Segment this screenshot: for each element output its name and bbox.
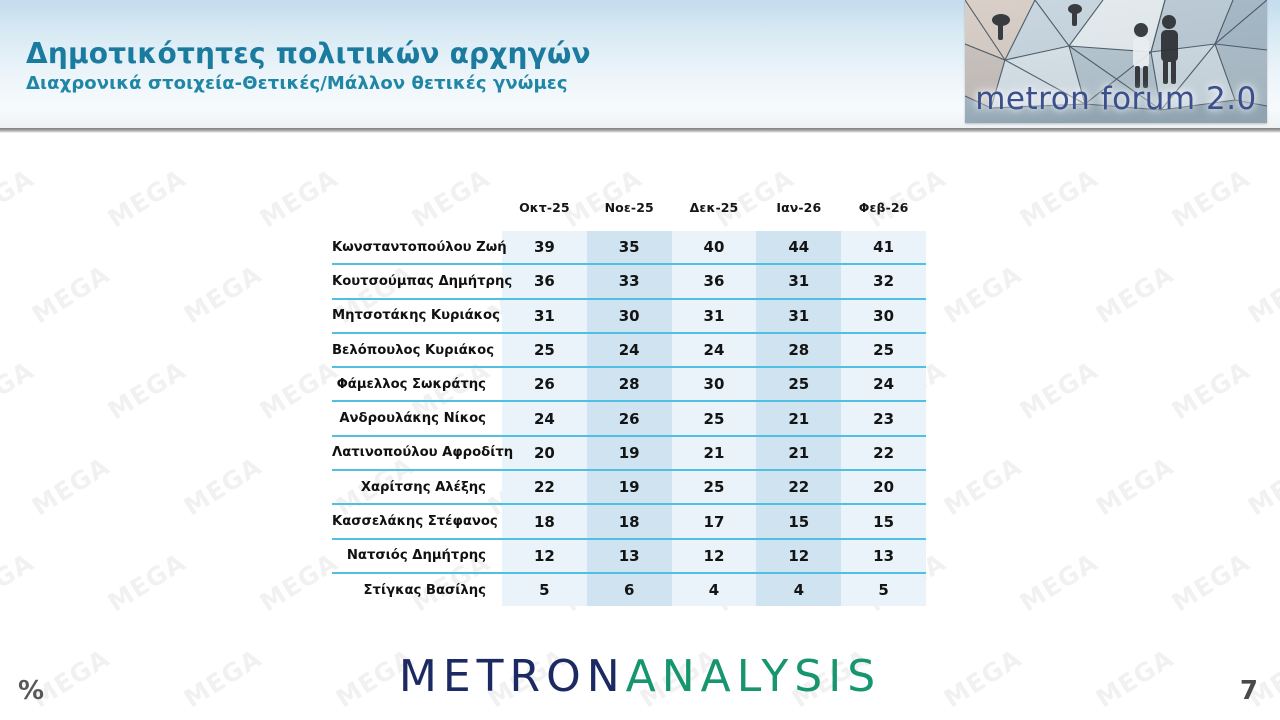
title-block: Δημοτικότητες πολιτικών αρχηγών Διαχρονι… xyxy=(26,38,591,95)
popularity-table: Οκτ-25 Νοε-25 Δεκ-25 Ιαν-26 Φεβ-26 Κωνστ… xyxy=(332,200,926,606)
row-label: Στίγκας Βασίλης xyxy=(332,573,502,606)
cell-r4-c2: 30 xyxy=(672,367,757,401)
cell-r10-c4: 5 xyxy=(841,573,926,606)
cell-r9-c0: 12 xyxy=(502,539,587,573)
watermark-text: MEGA xyxy=(0,163,39,233)
watermark-text: MEGA xyxy=(103,547,191,617)
cell-r6-c3: 21 xyxy=(756,436,841,470)
table-row: Ανδρουλάκης Νίκος2426252123 xyxy=(332,401,926,435)
cell-r0-c2: 40 xyxy=(672,231,757,264)
cell-r2-c2: 31 xyxy=(672,299,757,333)
table-body: Κωνσταντοπούλου Ζωή3935404441Κουτσούμπας… xyxy=(332,231,926,606)
table-header-row: Οκτ-25 Νοε-25 Δεκ-25 Ιαν-26 Φεβ-26 xyxy=(332,200,926,231)
row-label: Κασσελάκης Στέφανος xyxy=(332,504,502,538)
table-head: Οκτ-25 Νοε-25 Δεκ-25 Ιαν-26 Φεβ-26 xyxy=(332,200,926,231)
header-divider-rule xyxy=(0,128,1280,133)
slide: MEGAMEGAMEGAMEGAMEGAMEGAMEGAMEGAMEGAMEGA… xyxy=(0,0,1280,720)
cell-r1-c2: 36 xyxy=(672,264,757,298)
row-label: Ανδρουλάκης Νίκος xyxy=(332,401,502,435)
cell-r4-c3: 25 xyxy=(756,367,841,401)
cell-r8-c1: 18 xyxy=(587,504,672,538)
watermark-text: MEGA xyxy=(939,259,1027,329)
cell-r9-c3: 12 xyxy=(756,539,841,573)
cell-r6-c0: 20 xyxy=(502,436,587,470)
watermark-text: MEGA xyxy=(27,259,115,329)
column-header-2: Δεκ-25 xyxy=(672,200,757,231)
cell-r8-c4: 15 xyxy=(841,504,926,538)
cell-r9-c4: 13 xyxy=(841,539,926,573)
watermark-text: MEGA xyxy=(103,355,191,425)
watermark-text: MEGA xyxy=(1167,355,1255,425)
table-row: Βελόπουλος Κυριάκος2524242825 xyxy=(332,333,926,367)
cell-r3-c2: 24 xyxy=(672,333,757,367)
watermark-text: MEGA xyxy=(103,163,191,233)
page-title: Δημοτικότητες πολιτικών αρχηγών xyxy=(26,38,591,70)
table-row: Κωνσταντοπούλου Ζωή3935404441 xyxy=(332,231,926,264)
table-row: Κουτσούμπας Δημήτρης3633363132 xyxy=(332,264,926,298)
table-row: Λατινοπούλου Αφροδίτη2019212122 xyxy=(332,436,926,470)
cell-r3-c1: 24 xyxy=(587,333,672,367)
logo-analysis-text: ANALYSIS xyxy=(626,651,882,702)
cell-r3-c3: 28 xyxy=(756,333,841,367)
column-header-3: Ιαν-26 xyxy=(756,200,841,231)
table-row: Μητσοτάκης Κυριάκος3130313130 xyxy=(332,299,926,333)
column-header-0: Οκτ-25 xyxy=(502,200,587,231)
cell-r8-c2: 17 xyxy=(672,504,757,538)
watermark-text: MEGA xyxy=(179,259,267,329)
cell-r6-c4: 22 xyxy=(841,436,926,470)
cell-r5-c1: 26 xyxy=(587,401,672,435)
watermark-text: MEGA xyxy=(1167,547,1255,617)
cell-r9-c2: 12 xyxy=(672,539,757,573)
watermark-text: MEGA xyxy=(0,355,39,425)
cell-r1-c4: 32 xyxy=(841,264,926,298)
cell-r1-c3: 31 xyxy=(756,264,841,298)
cell-r8-c0: 18 xyxy=(502,504,587,538)
table-row: Κασσελάκης Στέφανος1818171515 xyxy=(332,504,926,538)
watermark-text: MEGA xyxy=(1243,451,1280,521)
row-label: Χαρίτσης Αλέξης xyxy=(332,470,502,504)
cell-r5-c0: 24 xyxy=(502,401,587,435)
cell-r3-c4: 25 xyxy=(841,333,926,367)
watermark-text: MEGA xyxy=(1167,163,1255,233)
watermark-text: MEGA xyxy=(255,163,343,233)
cell-r1-c0: 36 xyxy=(502,264,587,298)
cell-r10-c1: 6 xyxy=(587,573,672,606)
cell-r0-c3: 44 xyxy=(756,231,841,264)
page-subtitle: Διαχρονικά στοιχεία-Θετικές/Μάλλον θετικ… xyxy=(26,74,591,95)
brand-wordmark: metron forum 2.0 xyxy=(965,81,1267,117)
cell-r5-c4: 23 xyxy=(841,401,926,435)
watermark-text: MEGA xyxy=(27,451,115,521)
cell-r8-c3: 15 xyxy=(756,504,841,538)
cell-r2-c1: 30 xyxy=(587,299,672,333)
watermark-text: MEGA xyxy=(1091,259,1179,329)
watermark-text: MEGA xyxy=(1015,163,1103,233)
cell-r10-c3: 4 xyxy=(756,573,841,606)
watermark-text: MEGA xyxy=(1015,547,1103,617)
row-label: Βελόπουλος Κυριάκος xyxy=(332,333,502,367)
table-row: Νατσιός Δημήτρης1213121213 xyxy=(332,539,926,573)
watermark-text: MEGA xyxy=(255,547,343,617)
row-label: Κωνσταντοπούλου Ζωή xyxy=(332,231,502,264)
cell-r7-c4: 20 xyxy=(841,470,926,504)
cell-r7-c0: 22 xyxy=(502,470,587,504)
cell-r0-c0: 39 xyxy=(502,231,587,264)
cell-r9-c1: 13 xyxy=(587,539,672,573)
cell-r6-c1: 19 xyxy=(587,436,672,470)
row-label: Μητσοτάκης Κυριάκος xyxy=(332,299,502,333)
table-row: Φάμελλος Σωκράτης2628302524 xyxy=(332,367,926,401)
watermark-text: MEGA xyxy=(179,451,267,521)
cell-r6-c2: 21 xyxy=(672,436,757,470)
table-corner-cell xyxy=(332,200,502,231)
cell-r2-c4: 30 xyxy=(841,299,926,333)
watermark-text: MEGA xyxy=(1015,355,1103,425)
cell-r10-c0: 5 xyxy=(502,573,587,606)
watermark-text: MEGA xyxy=(0,547,39,617)
cell-r1-c1: 33 xyxy=(587,264,672,298)
watermark-text: MEGA xyxy=(1091,451,1179,521)
cell-r0-c4: 41 xyxy=(841,231,926,264)
watermark-text: MEGA xyxy=(255,355,343,425)
cell-r0-c1: 35 xyxy=(587,231,672,264)
cell-r4-c0: 26 xyxy=(502,367,587,401)
cell-r4-c1: 28 xyxy=(587,367,672,401)
popularity-table-wrapper: Οκτ-25 Νοε-25 Δεκ-25 Ιαν-26 Φεβ-26 Κωνστ… xyxy=(332,200,926,606)
column-header-1: Νοε-25 xyxy=(587,200,672,231)
cell-r10-c2: 4 xyxy=(672,573,757,606)
logo-metron-text: METRON xyxy=(399,651,626,702)
cell-r2-c0: 31 xyxy=(502,299,587,333)
row-label: Φάμελλος Σωκράτης xyxy=(332,367,502,401)
cell-r7-c3: 22 xyxy=(756,470,841,504)
cell-r7-c1: 19 xyxy=(587,470,672,504)
table-row: Στίγκας Βασίλης56445 xyxy=(332,573,926,606)
metron-forum-brand-image: metron forum 2.0 xyxy=(965,0,1267,123)
cell-r5-c3: 21 xyxy=(756,401,841,435)
column-header-4: Φεβ-26 xyxy=(841,200,926,231)
row-label: Λατινοπούλου Αφροδίτη xyxy=(332,436,502,470)
cell-r2-c3: 31 xyxy=(756,299,841,333)
cell-r7-c2: 25 xyxy=(672,470,757,504)
row-label: Κουτσούμπας Δημήτρης xyxy=(332,264,502,298)
watermark-text: MEGA xyxy=(939,451,1027,521)
watermark-text: MEGA xyxy=(1243,259,1280,329)
metron-analysis-logo: METRONANALYSIS xyxy=(0,651,1280,702)
cell-r3-c0: 25 xyxy=(502,333,587,367)
cell-r4-c4: 24 xyxy=(841,367,926,401)
cell-r5-c2: 25 xyxy=(672,401,757,435)
table-row: Χαρίτσης Αλέξης2219252220 xyxy=(332,470,926,504)
row-label: Νατσιός Δημήτρης xyxy=(332,539,502,573)
